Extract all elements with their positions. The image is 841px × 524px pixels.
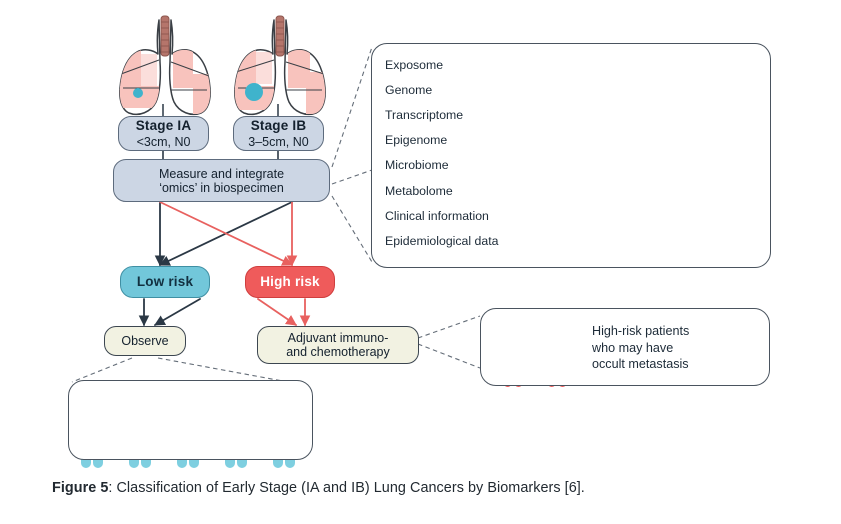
omics-label-genome: Genome [385, 77, 560, 102]
lung-illustration-stage-ia [119, 16, 211, 114]
stage-ia-title: Stage IA [136, 118, 192, 133]
lung-illustration-stage-ib [234, 16, 326, 114]
measure-omics-box[interactable]: Measure and integrate ‘omics’ in biospec… [113, 159, 330, 202]
adjuvant-line-2: and chemotherapy [286, 345, 390, 359]
stage-ib-box[interactable]: Stage IB 3–5cm, N0 [233, 116, 324, 151]
omics-label-clinical-information: Clinical information [385, 203, 560, 228]
omics-label-list: Exposome Genome Transcriptome Epigenome … [385, 52, 560, 254]
tumor-marker-ib [245, 83, 263, 101]
high-risk-description: High-risk patients who may have occult m… [592, 323, 767, 373]
tumor-marker-ia [133, 88, 143, 98]
omics-label-epidemiological-data: Epidemiological data [385, 228, 560, 253]
risk-assignment-arrows [160, 202, 292, 265]
observed-cohort-panel [68, 380, 313, 460]
omics-panel-connectors [332, 47, 372, 262]
figure-caption-text: Classification of Early Stage (IA and IB… [116, 480, 584, 496]
stage-ia-box[interactable]: Stage IA <3cm, N0 [118, 116, 209, 151]
observe-cohort-connectors [72, 358, 288, 382]
observe-box[interactable]: Observe [104, 326, 186, 356]
adjuvant-therapy-box[interactable]: Adjuvant immuno- and chemotherapy [257, 326, 419, 364]
high-risk-line-1: High-risk patients [592, 323, 767, 340]
omics-label-epigenome: Epigenome [385, 128, 560, 153]
high-risk-label: High risk [260, 274, 320, 289]
stage-ib-title: Stage IB [251, 118, 307, 133]
low-risk-label: Low risk [137, 274, 193, 289]
omics-label-metabolome: Metabolome [385, 178, 560, 203]
low-risk-badge[interactable]: Low risk [120, 266, 210, 298]
high-risk-badge[interactable]: High risk [245, 266, 335, 298]
observe-label: Observe [121, 334, 168, 348]
figure-caption: Figure 5: Classification of Early Stage … [52, 480, 812, 496]
stage-ia-detail: <3cm, N0 [137, 135, 191, 149]
high-risk-line-2: who may have [592, 340, 767, 357]
stage-ib-detail: 3–5cm, N0 [248, 135, 308, 149]
figure-caption-label: Figure 5 [52, 480, 108, 496]
treatment-arrows [144, 299, 305, 325]
measure-line-2: ‘omics’ in biospecimen [159, 181, 284, 195]
omics-label-exposome: Exposome [385, 52, 560, 77]
adjuvant-cohort-connectors [418, 316, 480, 368]
high-risk-line-3: occult metastasis [592, 356, 767, 373]
figure-diagram: Stage IA <3cm, N0 Stage IB 3–5cm, N0 Mea… [0, 0, 841, 470]
omics-label-transcriptome: Transcriptome [385, 102, 560, 127]
adjuvant-line-1: Adjuvant immuno- [288, 331, 389, 345]
measure-line-1: Measure and integrate [159, 167, 284, 181]
omics-label-microbiome: Microbiome [385, 153, 560, 178]
